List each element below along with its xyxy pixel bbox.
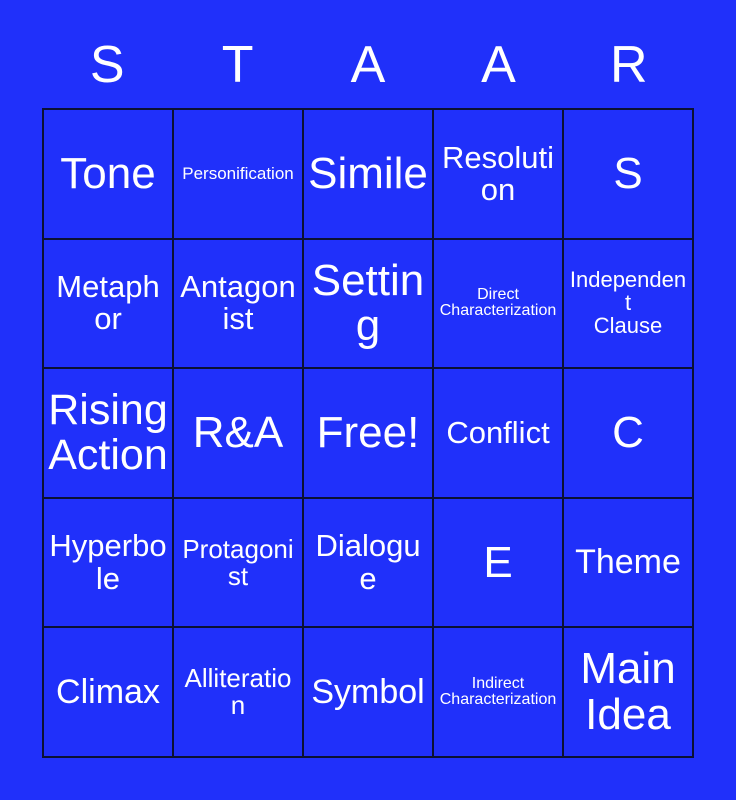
bingo-header-letter: T [172,36,302,94]
bingo-cell[interactable]: Setting [304,240,434,370]
bingo-cell[interactable]: Alliteration [174,628,304,758]
bingo-cell[interactable]: Conflict [434,369,564,499]
bingo-cell[interactable]: C [564,369,694,499]
bingo-header-letter: S [42,36,172,94]
bingo-cell-label: Setting [308,258,428,350]
bingo-card: STAAR TonePersonificationSimileResolutio… [0,0,736,800]
bingo-cell-label: RisingAction [48,388,168,477]
bingo-cell-line: Main [568,646,688,692]
bingo-cell-label: Climax [48,675,168,710]
bingo-cell[interactable]: IndependentClause [564,240,694,370]
bingo-cell-label: Protagonist [178,536,298,590]
bingo-cell-line: Direct [438,287,558,304]
bingo-cell[interactable]: DirectCharacterization [434,240,564,370]
bingo-cell-label: MainIdea [568,646,688,738]
bingo-cell[interactable]: R&A [174,369,304,499]
bingo-cell-line: Action [48,433,168,478]
bingo-cell[interactable]: Dialogue [304,499,434,629]
bingo-cell[interactable]: Personification [174,110,304,240]
bingo-cell-line: Characterization [438,303,558,320]
bingo-cell[interactable]: E [434,499,564,629]
bingo-cell-line: Indirect [438,676,558,693]
bingo-cell-label: S [568,151,688,197]
bingo-cell-label: Alliteration [178,665,298,719]
bingo-cell-label: DirectCharacterization [438,287,558,320]
bingo-header-letter: A [303,36,433,94]
bingo-cell-label: IndirectCharacterization [438,676,558,709]
bingo-cell-label: Theme [568,545,688,580]
bingo-cell-label: IndependentClause [568,269,688,338]
bingo-header-letter: A [433,36,563,94]
bingo-cell[interactable]: Antagonist [174,240,304,370]
bingo-cell[interactable]: Simile [304,110,434,240]
bingo-cell[interactable]: Tone [44,110,174,240]
bingo-cell-line: Rising [48,388,168,433]
bingo-cell-label: Hyperbole [48,530,168,594]
bingo-cell[interactable]: Resolution [434,110,564,240]
bingo-cell-label: C [568,410,688,456]
bingo-cell[interactable]: Hyperbole [44,499,174,629]
bingo-cell-label: Conflict [438,417,558,449]
bingo-header-letter: R [564,36,694,94]
bingo-cell-line: Idea [568,692,688,738]
bingo-cell-line: Characterization [438,692,558,709]
bingo-cell-label: Symbol [308,675,428,710]
bingo-cell-label: Free! [308,410,428,456]
bingo-cell[interactable]: Metaphor [44,240,174,370]
bingo-cell-label: Dialogue [308,530,428,594]
bingo-cell-label: Simile [308,151,428,197]
bingo-cell[interactable]: Protagonist [174,499,304,629]
bingo-cell-label: Metaphor [48,271,168,335]
bingo-cell-label: E [438,540,558,586]
bingo-cell[interactable]: MainIdea [564,628,694,758]
bingo-cell-label: R&A [178,410,298,456]
bingo-cell-line: Independent [568,269,688,315]
bingo-cell-label: Resolution [438,142,558,206]
bingo-cell[interactable]: RisingAction [44,369,174,499]
bingo-cell-label: Antagonist [178,271,298,335]
bingo-cell-label: Personification [178,165,298,183]
bingo-cell[interactable]: Theme [564,499,694,629]
bingo-cell-line: Clause [568,315,688,338]
bingo-header: STAAR [42,30,694,100]
bingo-cell[interactable]: Symbol [304,628,434,758]
bingo-cell[interactable]: Climax [44,628,174,758]
bingo-grid: TonePersonificationSimileResolutionSMeta… [42,108,694,758]
bingo-cell-label: Tone [48,151,168,197]
bingo-cell[interactable]: IndirectCharacterization [434,628,564,758]
bingo-cell-free[interactable]: Free! [304,369,434,499]
bingo-cell[interactable]: S [564,110,694,240]
